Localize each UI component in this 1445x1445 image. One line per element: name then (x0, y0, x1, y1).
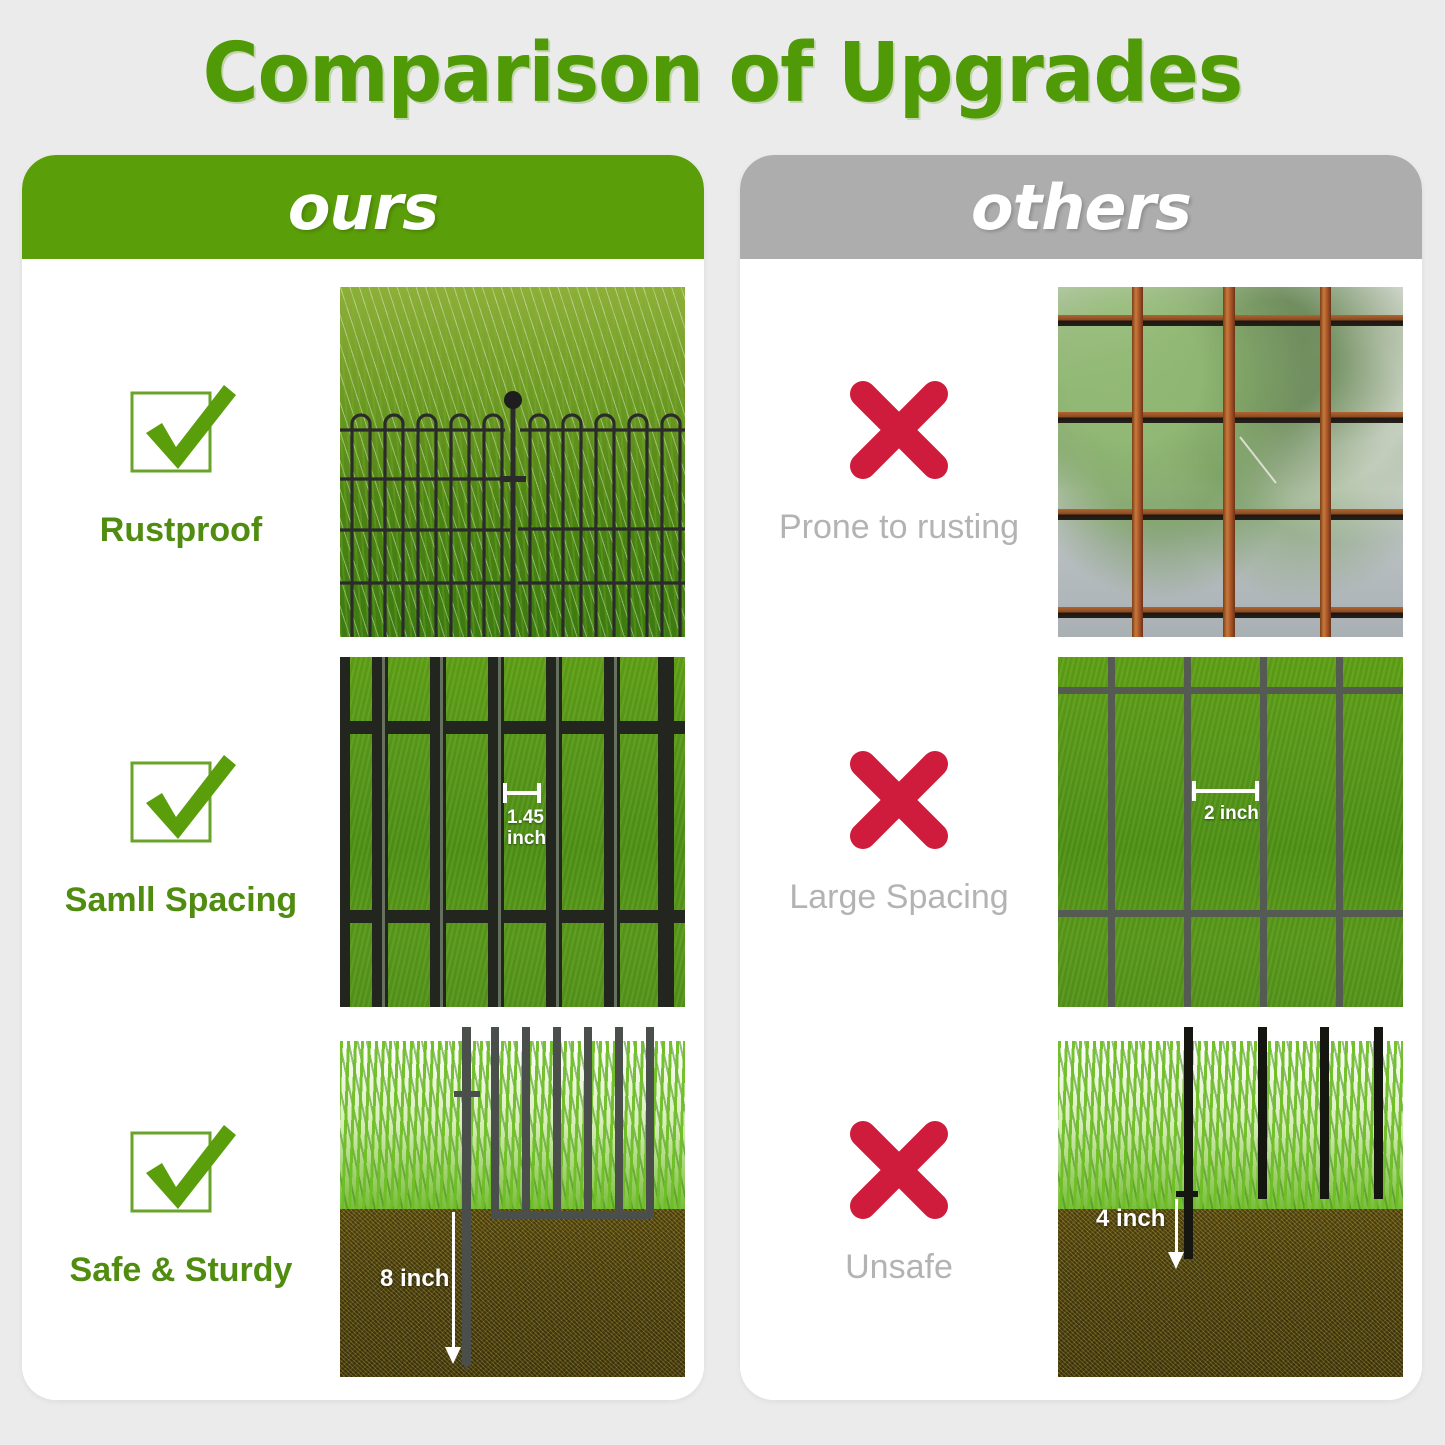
dimension-label-1-45-inch: 1.45 inch (507, 807, 546, 850)
dimension-bar-2-inch (1192, 789, 1259, 793)
dimension-label-2-inch: 2 inch (1204, 803, 1259, 824)
fence-stake-overlay (340, 1027, 685, 1377)
comparison-infographic: Comparison of Upgrades ours Rustproof (0, 0, 1445, 1445)
rusty-grid-photo (1058, 287, 1403, 637)
feature-label-prone-to-rusting: Prone to rusting (779, 508, 1019, 547)
column-header-label-ours: ours (288, 171, 438, 244)
fence-overlay (340, 287, 685, 637)
shallow-stake-overlay (1058, 1027, 1403, 1377)
x-icon (843, 374, 955, 486)
rusty-grid-overlay (1058, 287, 1403, 637)
feature-prone-to-rusting: Prone to rusting (740, 277, 1058, 647)
feature-label-large-spacing: Large Spacing (789, 878, 1008, 917)
column-others: others Prone to rusting (740, 155, 1422, 1400)
x-icon (843, 744, 955, 856)
page-title: Comparison of Upgrades (51, 26, 1395, 121)
feature-row-small-spacing: Samll Spacing (22, 647, 704, 1017)
small-spacing-photo: 1.45 inch (340, 657, 685, 1007)
check-icon (120, 741, 242, 859)
column-body-others: Prone to rusting (740, 259, 1422, 1400)
check-icon (120, 371, 242, 489)
shallow-stake-photo: 4 inch (1058, 1027, 1403, 1377)
feature-label-rustproof: Rustproof (100, 511, 262, 550)
column-header-others: others (740, 155, 1422, 259)
feature-large-spacing: Large Spacing (740, 647, 1058, 1017)
feature-label-unsafe: Unsafe (845, 1248, 953, 1287)
dimension-label-4-inch: 4 inch (1096, 1205, 1165, 1233)
feature-safe-sturdy: Safe & Sturdy (22, 1017, 340, 1387)
feature-unsafe: Unsafe (740, 1017, 1058, 1387)
check-icon (120, 1111, 242, 1229)
dimension-arrow-4-inch (1175, 1199, 1178, 1255)
wide-bars-overlay (1058, 657, 1403, 1007)
feature-label-safe-sturdy: Safe & Sturdy (70, 1251, 293, 1290)
rainy-fence-photo (340, 287, 685, 637)
feature-row-rustproof: Rustproof (22, 277, 704, 647)
column-header-label-others: others (971, 171, 1191, 244)
column-ours: ours Rustproof (22, 155, 704, 1400)
column-header-ours: ours (22, 155, 704, 259)
large-spacing-photo: 2 inch (1058, 657, 1403, 1007)
dimension-label-8-inch: 8 inch (380, 1265, 449, 1293)
deep-stake-photo: 8 inch (340, 1027, 685, 1377)
feature-row-prone-to-rusting: Prone to rusting (740, 277, 1422, 647)
dimension-arrow-8-inch (452, 1212, 455, 1350)
feature-row-large-spacing: Large Spacing 2 inch (740, 647, 1422, 1017)
feature-small-spacing: Samll Spacing (22, 647, 340, 1017)
feature-rustproof: Rustproof (22, 277, 340, 647)
feature-row-safe-sturdy: Safe & Sturdy (22, 1017, 704, 1387)
feature-row-unsafe: Unsafe (740, 1017, 1422, 1387)
column-body-ours: Rustproof (22, 259, 704, 1400)
x-icon (843, 1114, 955, 1226)
dimension-bar-1-45-inch (503, 791, 541, 795)
feature-label-small-spacing: Samll Spacing (65, 881, 297, 920)
